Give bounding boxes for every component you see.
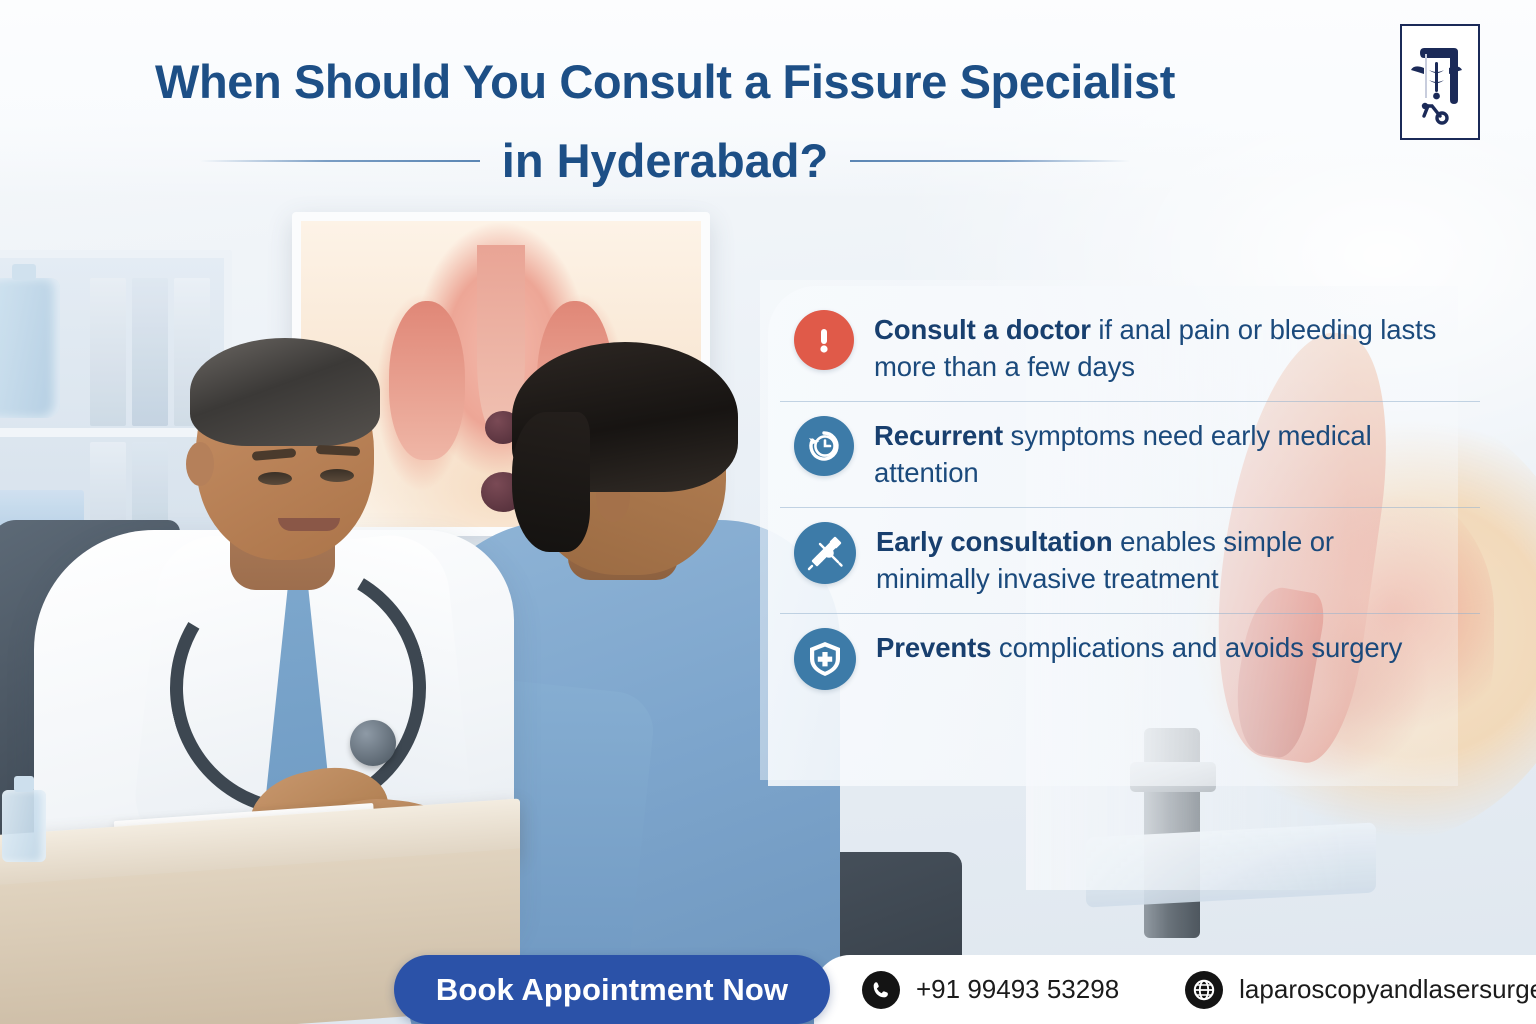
list-item-rest: complications and avoids surgery <box>991 632 1402 663</box>
clock-refresh-icon <box>794 416 854 476</box>
sanitizer-bottle <box>2 790 46 862</box>
globe-icon <box>1185 971 1223 1009</box>
phone-icon <box>862 971 900 1009</box>
bottom-bar: +91 99493 53298 laparoscopyandlasersurge… <box>394 955 1536 1024</box>
syringe-icon <box>794 522 856 584</box>
list-item-bold: Recurrent <box>874 420 1003 451</box>
shield-cross-icon <box>794 628 856 690</box>
contact-strip: +91 99493 53298 laparoscopyandlasersurge… <box>814 955 1536 1024</box>
list-item-text: Early consultation enables simple or min… <box>876 522 1436 597</box>
phone-number[interactable]: +91 99493 53298 <box>916 974 1119 1005</box>
list-item[interactable]: Recurrent symptoms need early medical at… <box>780 401 1480 507</box>
page-title: When Should You Consult a Fissure Specia… <box>0 58 1330 106</box>
benefits-list: Consult a doctor if anal pain or bleedin… <box>780 296 1480 706</box>
website-url[interactable]: laparoscopyandlasersurgeons.com <box>1239 974 1536 1005</box>
title-line-2-row: in Hyderabad? <box>0 133 1330 188</box>
infographic-canvas: When Should You Consult a Fissure Specia… <box>0 0 1536 1024</box>
book-appointment-button[interactable]: Book Appointment Now <box>394 955 830 1024</box>
header-area: When Should You Consult a Fissure Specia… <box>0 0 1536 200</box>
list-item-text: Recurrent symptoms need early medical at… <box>874 416 1434 491</box>
list-item-text: Prevents complications and avoids surger… <box>876 628 1402 667</box>
title-line-2: in Hyderabad? <box>502 133 828 188</box>
exclamation-icon <box>794 310 854 370</box>
caduceus-laparoscopy-logo <box>1400 24 1480 140</box>
title-rule-right <box>850 160 1130 162</box>
list-item-bold: Early consultation <box>876 526 1113 557</box>
list-item-bold: Consult a doctor <box>874 314 1091 345</box>
list-item-bold: Prevents <box>876 632 991 663</box>
list-item[interactable]: Prevents complications and avoids surger… <box>780 613 1480 706</box>
list-item-text: Consult a doctor if anal pain or bleedin… <box>874 310 1454 385</box>
title-line-1: When Should You Consult a Fissure Specia… <box>0 58 1330 106</box>
list-item[interactable]: Consult a doctor if anal pain or bleedin… <box>780 296 1480 401</box>
list-item[interactable]: Early consultation enables simple or min… <box>780 507 1480 613</box>
title-rule-left <box>200 160 480 162</box>
